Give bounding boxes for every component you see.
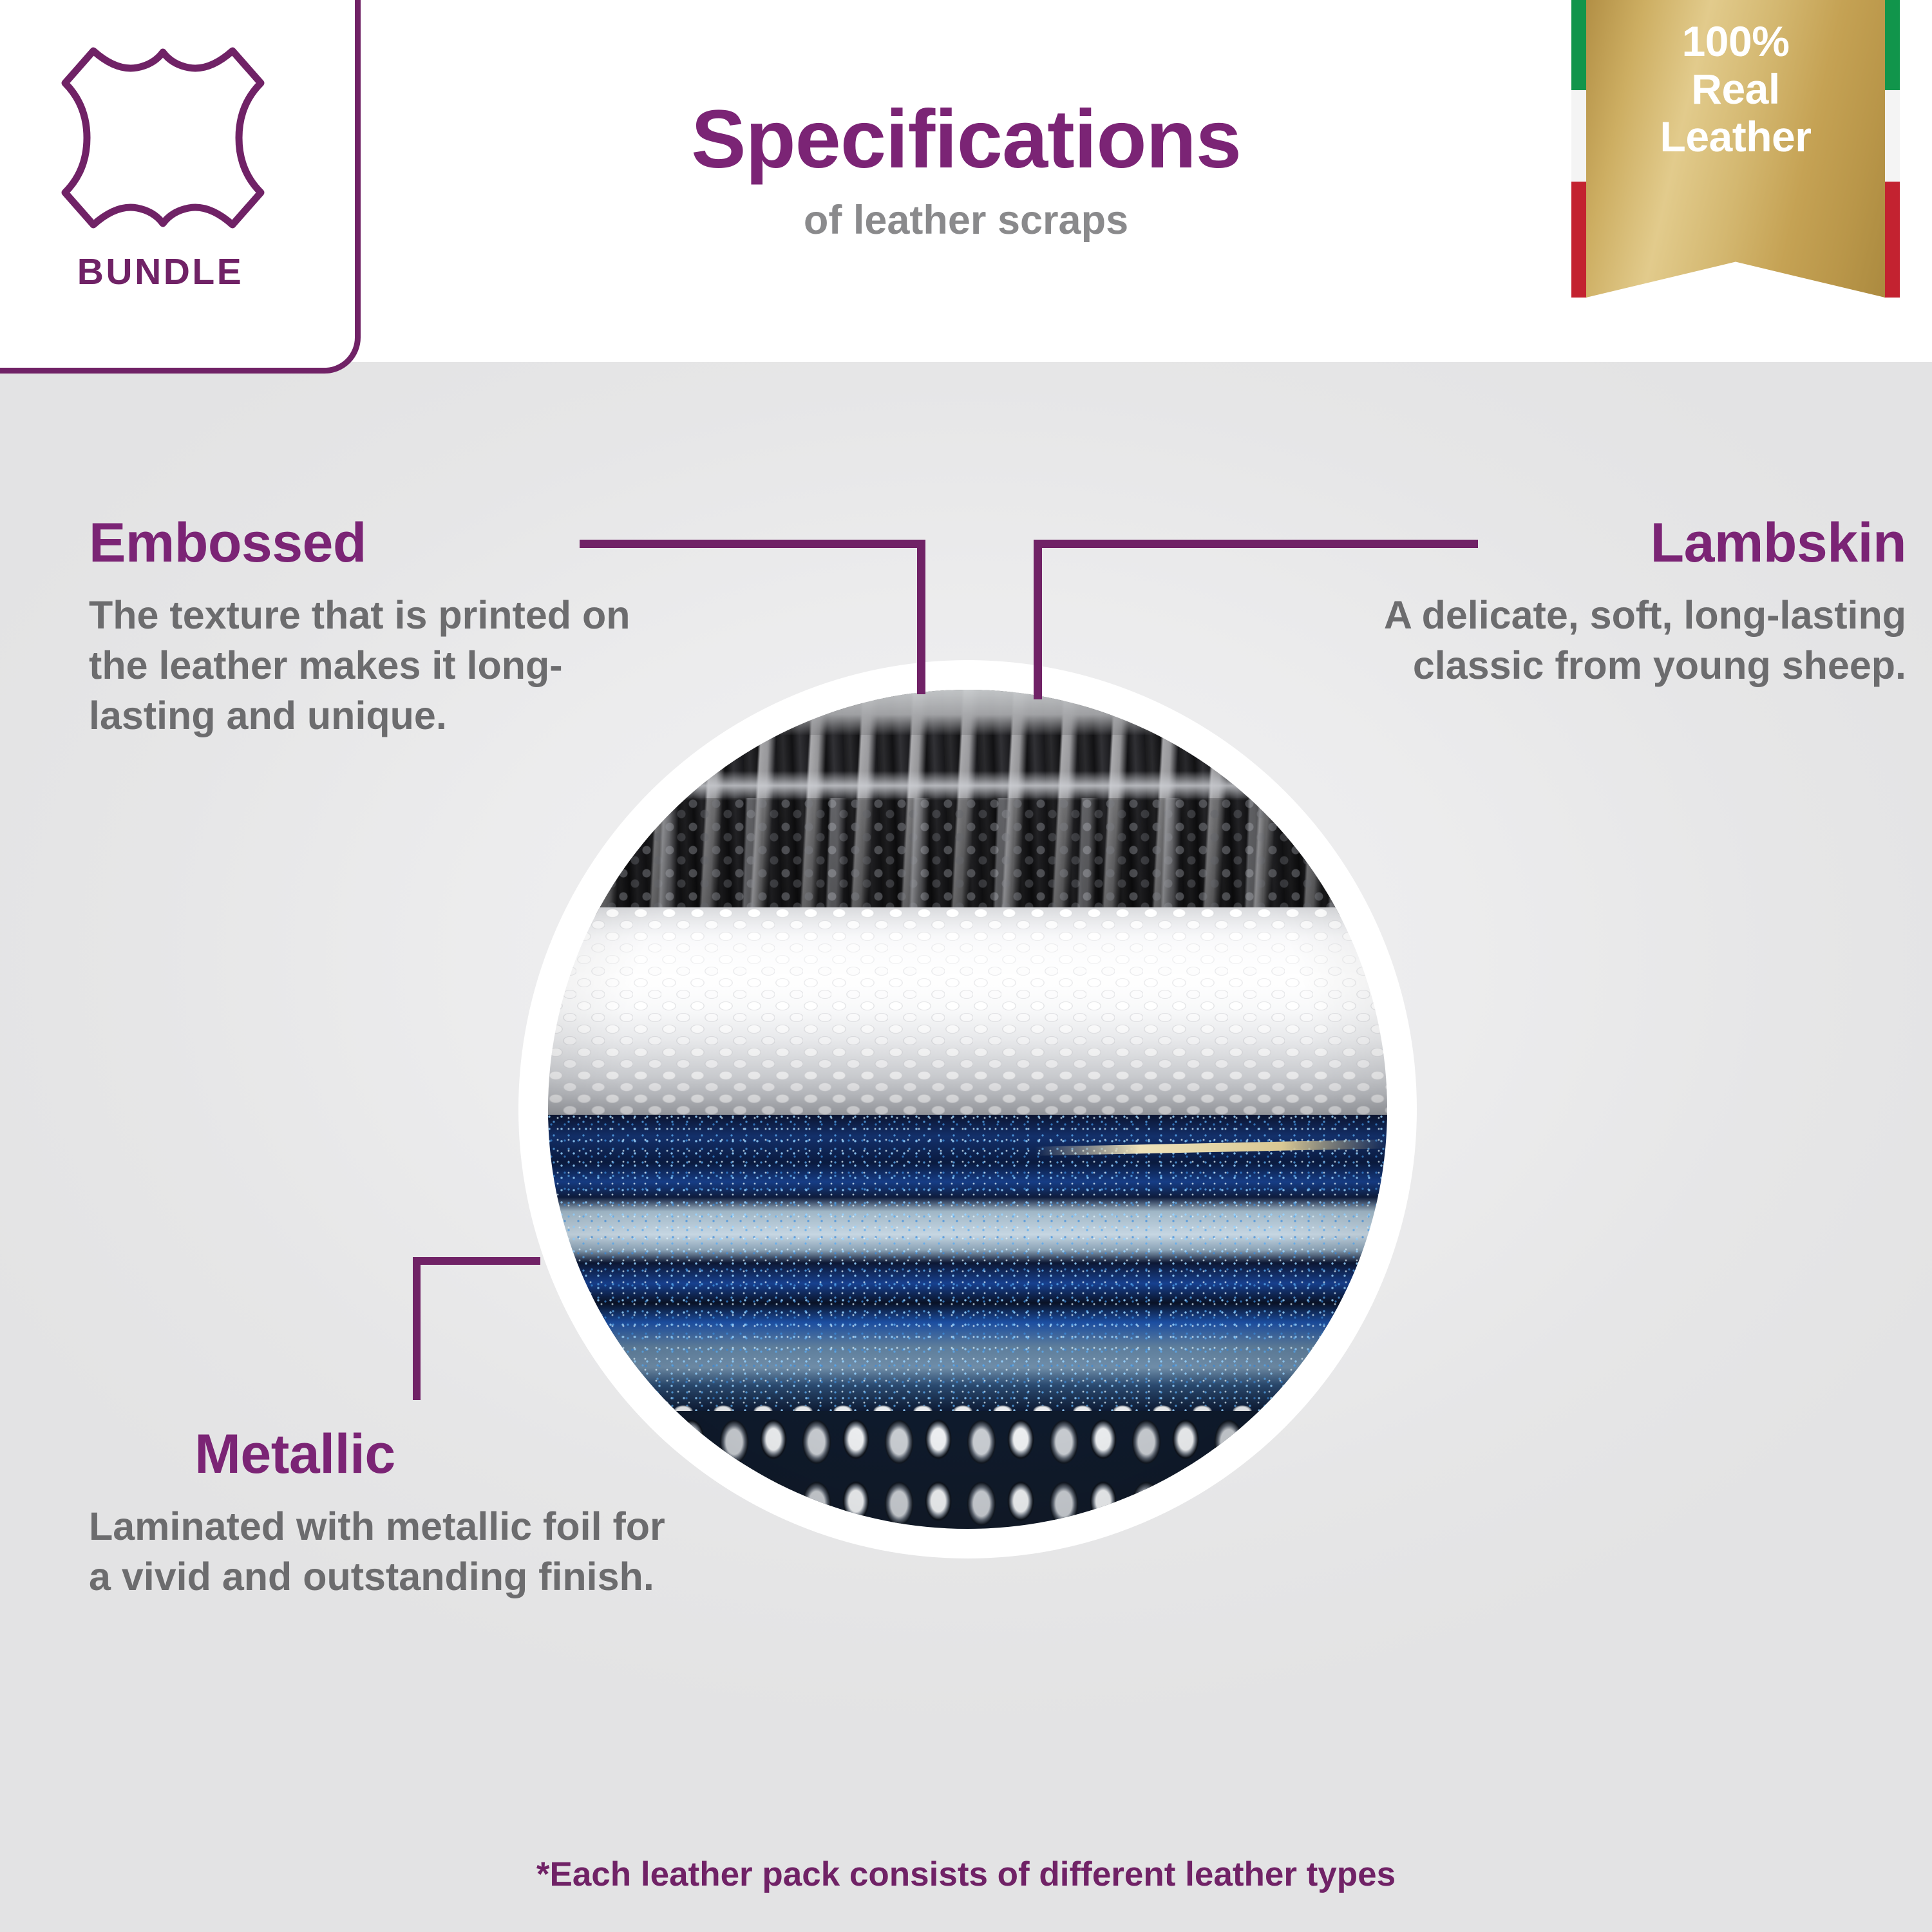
flag-white-segment [1884, 90, 1900, 182]
callout-lambskin: Lambskin A delicate, soft, long-lasting … [1288, 515, 1906, 690]
connector-lambskin-vertical [1034, 540, 1042, 699]
callout-metallic-title: Metallic [89, 1426, 501, 1482]
ribbon-line-real: Real [1691, 66, 1779, 113]
callout-metallic: Metallic Laminated with metallic foil fo… [89, 1426, 668, 1602]
flag-green-segment [1884, 0, 1900, 90]
footer-note: *Each leather pack consists of different… [0, 1855, 1932, 1894]
ribbon-line-percent: 100% [1682, 18, 1790, 66]
callout-lambskin-title: Lambskin [1288, 515, 1906, 571]
connector-metallic-vertical [413, 1257, 421, 1400]
italian-flag-stripe-left [1571, 0, 1587, 298]
page-subtitle: of leather scraps [451, 197, 1481, 243]
real-leather-ribbon-badge: 100% Real Leather [1571, 0, 1900, 298]
italian-flag-stripe-right [1884, 0, 1900, 298]
connector-embossed-vertical [917, 540, 925, 694]
connector-metallic-horizontal [413, 1257, 540, 1265]
title-block: Specifications of leather scraps [451, 97, 1481, 243]
bundle-label: BUNDLE [0, 251, 341, 293]
flag-white-segment [1571, 90, 1587, 182]
callout-embossed-title: Embossed [89, 515, 643, 571]
page-title: Specifications [451, 97, 1481, 183]
photo-vignette [548, 690, 1387, 1529]
callout-metallic-body: Laminated with metallic foil for a vivid… [89, 1501, 668, 1602]
callout-embossed: Embossed The texture that is printed on … [89, 515, 643, 741]
bundle-badge: BUNDLE [0, 0, 361, 374]
leather-photo-image [548, 690, 1387, 1529]
leather-photo-circle [548, 690, 1387, 1529]
callout-lambskin-body: A delicate, soft, long-lasting classic f… [1288, 590, 1906, 690]
ribbon-line-leather: Leather [1660, 113, 1812, 161]
leather-photo-ring [518, 660, 1417, 1558]
flag-red-segment [1884, 182, 1900, 298]
leather-hide-icon [34, 38, 292, 238]
ribbon-gold-banner: 100% Real Leather [1586, 0, 1885, 298]
callout-embossed-body: The texture that is printed on the leath… [89, 590, 643, 741]
flag-red-segment [1571, 182, 1587, 298]
flag-green-segment [1571, 0, 1587, 90]
